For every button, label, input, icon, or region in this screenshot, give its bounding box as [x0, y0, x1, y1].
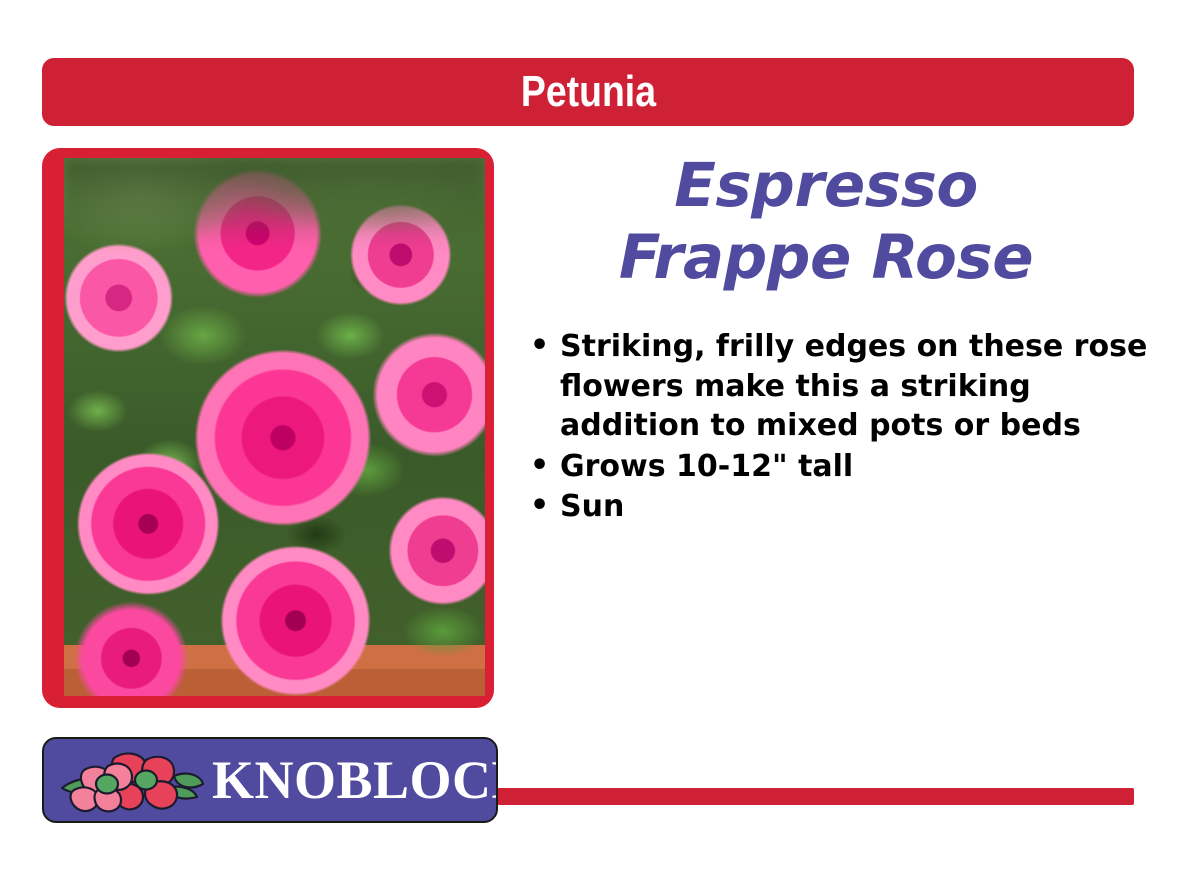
feature-item: Sun [528, 487, 1168, 527]
header-banner: Petunia [42, 58, 1134, 126]
page-title: Petunia [520, 70, 655, 114]
brand-logo: KNOBLOCH'S [42, 737, 498, 823]
photo-background-blur [64, 158, 485, 244]
flower-cluster-icon [54, 744, 206, 816]
cultivar-name-line-1: Espresso [510, 150, 1142, 222]
cultivar-name: Espresso Frappe Rose [510, 150, 1142, 294]
brand-wordmark: KNOBLOCH'S [212, 753, 498, 807]
feature-item: Grows 10-12" tall [528, 447, 1168, 487]
plant-photo [64, 158, 485, 696]
plant-photo-frame [42, 148, 494, 708]
feature-item: Striking, frilly edges on these rose flo… [528, 327, 1168, 446]
feature-list: Striking, frilly edges on these rose flo… [528, 327, 1168, 528]
cultivar-name-line-2: Frappe Rose [510, 222, 1142, 294]
footer-accent-bar [470, 788, 1134, 805]
